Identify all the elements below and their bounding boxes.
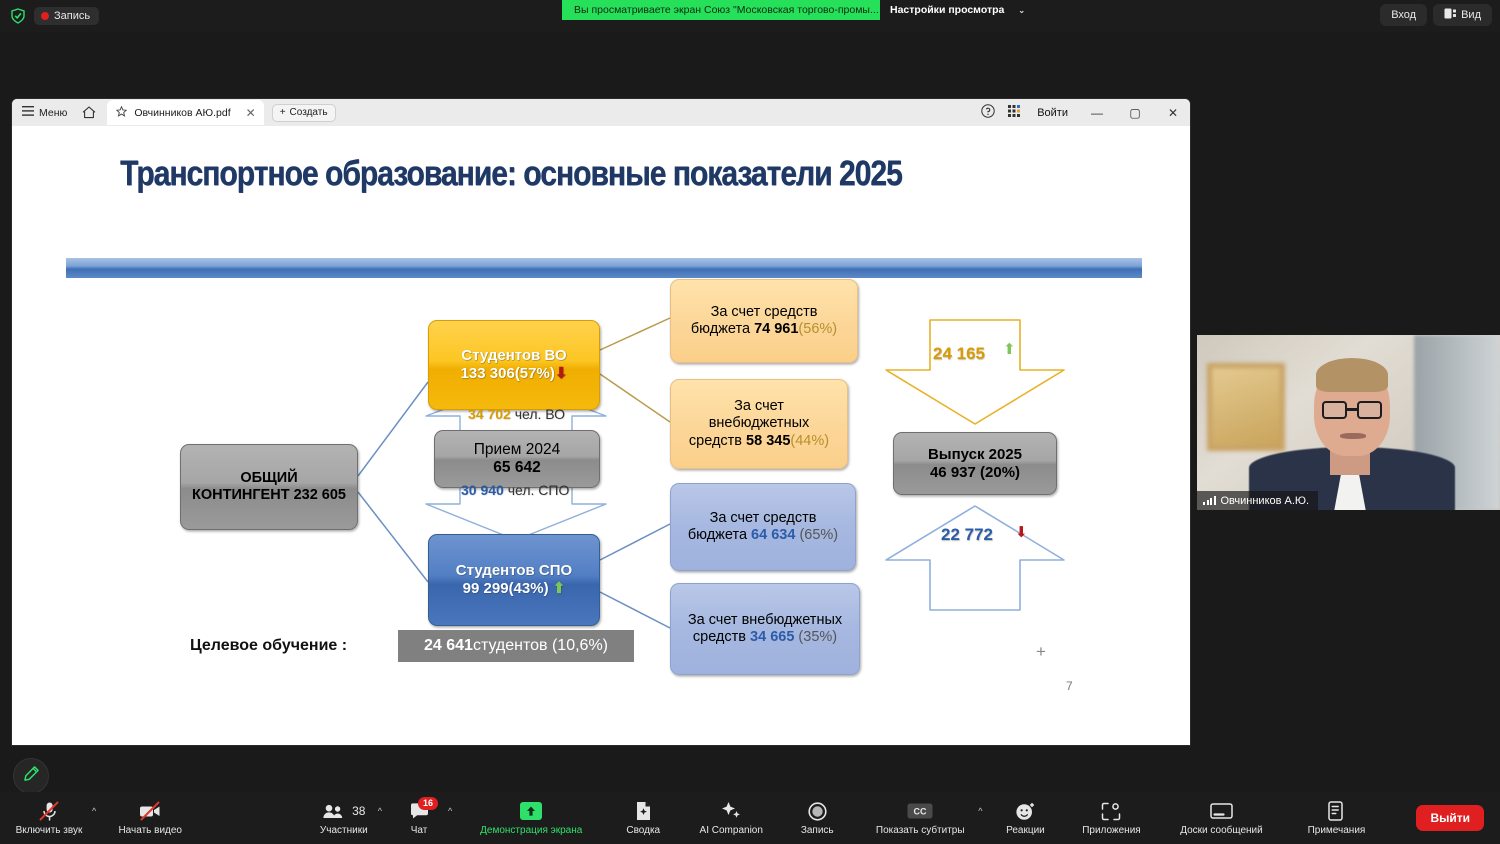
chat-unread-badge: 16 xyxy=(418,797,438,810)
box-budget-spo-pct: (65%) xyxy=(799,527,838,543)
pdf-document-area[interactable]: Транспортное образование: основные показ… xyxy=(12,126,1190,745)
node-spo-value-row: 99 299(43%) ⬆ xyxy=(463,580,566,598)
box-budget-vo-line1: За счет средств xyxy=(711,304,818,321)
svg-text:CC: CC xyxy=(914,806,927,816)
start-video-button[interactable]: Начать видео xyxy=(106,800,194,836)
view-settings-button[interactable]: Настройки просмотра ⌄ xyxy=(880,0,1035,20)
box-budget-vo-number: 74 961 xyxy=(754,321,798,337)
node-students-spo[interactable]: Студентов СПО 99 299(43%) ⬆ xyxy=(428,534,600,626)
label-flow-spo: 30 940 чел. СПО xyxy=(461,482,569,498)
node-vypusk-line2: 46 937 (20%) xyxy=(930,464,1020,482)
person-hair xyxy=(1316,358,1388,392)
trend-up-icon: ⬆ xyxy=(1003,340,1016,358)
record-dot-icon xyxy=(41,12,49,20)
browser-tab-bar: Меню Овчинников АЮ.pdf ✕ + Создать Войти… xyxy=(12,99,1190,126)
node-vo-pct: (57%) xyxy=(515,365,555,382)
record-label: Запись xyxy=(801,825,834,836)
people-icon: 38 xyxy=(322,800,365,822)
node-vo-number: 133 306 xyxy=(461,365,515,382)
slide-page-number: 7 xyxy=(1066,679,1073,693)
recording-indicator[interactable]: Запись xyxy=(34,7,99,25)
box-extrabudget-vo-pct: (44%) xyxy=(790,433,829,449)
reactions-button[interactable]: Реакции xyxy=(994,800,1056,836)
box-budget-spo-line2: бюджета 64 634 (65%) xyxy=(688,527,838,544)
box-extrabudget-vo-line1: За счет xyxy=(734,398,784,415)
notes-icon xyxy=(1327,800,1345,822)
screen-share-banner-group: Вы просматриваете экран Союз "Московская… xyxy=(562,0,1035,20)
pdf-viewer-window: Меню Овчинников АЮ.pdf ✕ + Создать Войти… xyxy=(12,99,1190,745)
node-vo-label: Студентов ВО xyxy=(461,347,566,365)
apps-label: Приложения xyxy=(1082,825,1141,836)
close-tab-icon[interactable]: ✕ xyxy=(246,106,256,120)
summary-label: Сводка xyxy=(626,825,660,836)
menu-label: Меню xyxy=(39,107,67,119)
notes-label: Примечания xyxy=(1308,825,1366,836)
share-screen-icon xyxy=(517,800,545,822)
box-extrabudget-vo-number: 58 345 xyxy=(746,433,790,449)
label-flow-vo-number: 34 702 xyxy=(468,406,511,422)
pencil-icon xyxy=(23,765,40,787)
recording-group: Запись xyxy=(8,5,99,27)
participant-name: Овчинников А.Ю. xyxy=(1221,495,1310,507)
target-training-label: Целевое обучение : xyxy=(190,637,347,655)
sparkle-icon xyxy=(720,800,742,822)
reactions-label: Реакции xyxy=(1006,825,1045,836)
zoom-control-bar: Включить звук ^ Начать видео 38 Участник… xyxy=(0,792,1500,844)
node-priem-line2: 65 642 xyxy=(493,459,540,477)
view-button[interactable]: Вид xyxy=(1433,4,1492,26)
chat-options-chevron-icon[interactable]: ^ xyxy=(448,806,452,816)
trend-down-icon: ⬇ xyxy=(1015,523,1028,541)
box-extrabudget-spo-pct: (35%) xyxy=(798,629,837,645)
maximize-button[interactable]: ▢ xyxy=(1122,106,1148,120)
share-screen-button[interactable]: Демонстрация экрана xyxy=(466,800,596,836)
document-sparkle-icon xyxy=(635,800,652,822)
unmute-label: Включить звук xyxy=(16,825,83,836)
box-extrabudget-spo-line1: За счет внебюджетных xyxy=(688,612,842,629)
participant-name-badge: Овчинников А.Ю. xyxy=(1197,491,1318,510)
apps-button[interactable]: Приложения xyxy=(1070,800,1152,836)
star-icon[interactable] xyxy=(116,106,127,120)
box-budget-vo-line2: бюджета 74 961(56%) xyxy=(691,321,837,338)
crosshair-cursor-icon: + xyxy=(1036,642,1046,662)
target-training-value[interactable]: 24 641 студентов (10,6%) xyxy=(398,630,634,662)
box-budget-spo[interactable]: За счет средств бюджета 64 634 (65%) xyxy=(670,483,856,571)
login-label: Вход xyxy=(1391,9,1416,21)
ai-companion-button[interactable]: AI Companion xyxy=(688,800,774,836)
audio-options-chevron-icon[interactable]: ^ xyxy=(92,806,96,816)
label-flow-vo-text: чел. ВО xyxy=(511,406,565,422)
node-spo-pct: (43%) xyxy=(509,580,549,597)
signin-button[interactable]: Войти xyxy=(1037,107,1068,119)
label-flow-vo: 34 702 чел. ВО xyxy=(468,406,565,422)
screen-share-banner: Вы просматриваете экран Союз "Московская… xyxy=(562,0,880,20)
notes-button[interactable]: Примечания xyxy=(1290,800,1382,836)
minimize-button[interactable]: — xyxy=(1084,106,1110,120)
apps-bracket-icon xyxy=(1101,800,1121,822)
box-budget-vo[interactable]: За счет средств бюджета 74 961(56%) xyxy=(670,279,858,363)
plus-icon: + xyxy=(280,107,286,118)
label-flow-spo-number: 30 940 xyxy=(461,482,504,498)
leave-meeting-button[interactable]: Выйти xyxy=(1416,805,1484,831)
login-button[interactable]: Вход xyxy=(1380,4,1427,26)
box-extrabudget-vo-line2: внебюджетных xyxy=(709,415,810,432)
whiteboards-button[interactable]: Доски сообщений xyxy=(1166,800,1276,836)
participants-button[interactable]: 38 Участники xyxy=(312,800,376,836)
slide-canvas: Транспортное образование: основные показ… xyxy=(48,142,1154,743)
apps-grid-icon[interactable] xyxy=(1007,104,1021,121)
start-video-label: Начать видео xyxy=(118,825,182,836)
annotation-pencil-button[interactable] xyxy=(13,758,49,794)
node-students-vo[interactable]: Студентов ВО 133 306(57%)⬇ xyxy=(428,320,600,410)
view-settings-label: Настройки просмотра xyxy=(890,4,1004,16)
summary-button[interactable]: Сводка xyxy=(612,800,674,836)
label-flow-spo-text: чел. СПО xyxy=(504,482,570,498)
participants-count: 38 xyxy=(352,804,365,818)
box-budget-spo-line1: За счет средств xyxy=(710,510,817,527)
trend-down-icon: ⬇ xyxy=(555,365,568,382)
whiteboards-label: Доски сообщений xyxy=(1180,825,1263,836)
captions-button[interactable]: CC Показать субтитры xyxy=(864,800,976,836)
captions-options-chevron-icon[interactable]: ^ xyxy=(978,806,982,816)
new-tab-button[interactable]: + Создать xyxy=(272,104,336,122)
node-spo-number: 99 299 xyxy=(463,580,509,597)
smiley-plus-icon xyxy=(1015,800,1036,822)
help-circle-icon[interactable] xyxy=(981,104,995,121)
box-budget-spo-number: 64 634 xyxy=(751,527,795,543)
record-circle-icon xyxy=(808,800,827,822)
cc-icon: CC xyxy=(907,800,933,822)
chat-button[interactable]: 16 Чат xyxy=(392,800,446,836)
node-total-line1: ОБЩИЙ xyxy=(240,470,297,487)
label-incoming-24165: 24 165 xyxy=(933,344,985,364)
top-right-controls: Вход Вид xyxy=(1380,4,1492,26)
box-extrabudget-spo[interactable]: За счет внебюджетных средств 34 665 (35%… xyxy=(670,583,860,675)
person-mouth xyxy=(1340,433,1366,439)
picture-frame-decoration xyxy=(1207,363,1285,451)
target-training-number: 24 641 xyxy=(424,637,473,655)
chat-label: Чат xyxy=(411,825,428,836)
box-budget-vo-pct: (56%) xyxy=(798,321,837,337)
node-total-line2: КОНТИНГЕНТ 232 605 xyxy=(192,487,346,504)
ai-companion-label: AI Companion xyxy=(700,825,763,836)
zoom-top-bar: Запись Вы просматриваете экран Союз "Мос… xyxy=(0,0,1500,32)
pdf-tab-title: Овчинников АЮ.pdf xyxy=(134,107,230,119)
view-button-label: Вид xyxy=(1461,9,1481,21)
hamburger-icon xyxy=(22,106,34,119)
close-window-button[interactable]: ✕ xyxy=(1160,106,1186,120)
new-tab-label: Создать xyxy=(290,107,328,118)
unmute-button[interactable]: Включить звук xyxy=(6,800,92,836)
node-vo-value-row: 133 306(57%)⬇ xyxy=(461,365,568,383)
record-button[interactable]: Запись xyxy=(788,800,846,836)
whiteboard-icon xyxy=(1210,800,1233,822)
window-controls: Войти — ▢ ✕ xyxy=(981,99,1186,126)
home-icon[interactable] xyxy=(75,104,103,121)
box-extrabudget-spo-number: 34 665 xyxy=(750,629,794,645)
recording-label: Запись xyxy=(54,10,90,22)
participants-label: Участники xyxy=(320,825,368,836)
participants-options-chevron-icon[interactable]: ^ xyxy=(378,806,382,816)
signal-bars-icon xyxy=(1203,496,1216,505)
trend-up-icon: ⬆ xyxy=(553,580,566,597)
captions-label: Показать субтитры xyxy=(876,825,965,836)
page-title: Транспортное образование: основные показ… xyxy=(120,154,902,194)
node-graduates-2025[interactable]: Выпуск 2025 46 937 (20%) xyxy=(893,432,1057,495)
pdf-tab[interactable]: Овчинников АЮ.pdf ✕ xyxy=(107,100,263,125)
eyeglasses xyxy=(1322,401,1382,419)
share-screen-label: Демонстрация экрана xyxy=(480,825,582,836)
node-admission-2024[interactable]: Прием 2024 65 642 xyxy=(434,430,600,488)
menu-button[interactable]: Меню xyxy=(18,103,75,122)
camera-muted-icon xyxy=(139,800,161,822)
box-extrabudget-vo-line3: средств 58 345(44%) xyxy=(689,433,829,450)
chevron-down-icon: ⌄ xyxy=(1018,6,1025,15)
microphone-muted-icon xyxy=(41,800,58,822)
shield-check-icon[interactable] xyxy=(8,5,28,27)
node-total-contingent[interactable]: ОБЩИЙ КОНТИНГЕНТ 232 605 xyxy=(180,444,358,530)
box-extrabudget-spo-line2: средств 34 665 (35%) xyxy=(693,629,837,646)
view-layout-icon xyxy=(1444,8,1456,22)
participant-video-tile[interactable]: Овчинников А.Ю. xyxy=(1197,335,1500,510)
node-vypusk-line1: Выпуск 2025 xyxy=(928,446,1022,464)
box-extrabudget-vo[interactable]: За счет внебюджетных средств 58 345(44%) xyxy=(670,379,848,469)
node-spo-label: Студентов СПО xyxy=(456,562,572,580)
title-divider-bar xyxy=(66,258,1142,278)
node-priem-line1: Прием 2024 xyxy=(474,441,560,459)
target-training-text: студентов (10,6%) xyxy=(473,637,608,655)
label-outgoing-22772: 22 772 xyxy=(941,525,993,545)
